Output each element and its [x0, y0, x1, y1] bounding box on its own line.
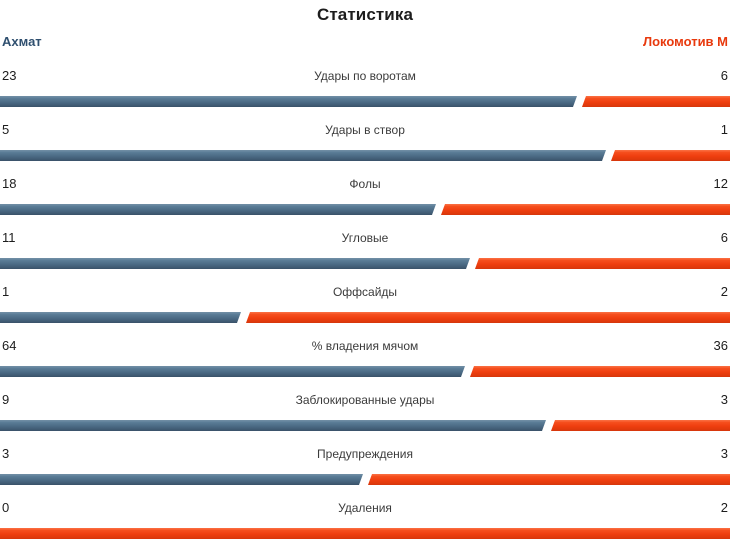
stat-label: Удаления	[36, 501, 694, 515]
stat-label: Угловые	[36, 231, 694, 245]
away-bar-segment	[243, 312, 730, 323]
away-bar-segment	[0, 528, 730, 539]
stat-label: Заблокированные удары	[36, 393, 694, 407]
stat-bar	[0, 528, 730, 539]
away-stat-value: 12	[694, 176, 728, 191]
stat-row-header: 1Оффсайды2	[0, 284, 730, 306]
away-bar-segment	[438, 204, 730, 215]
away-team-name: Локомотив М	[643, 34, 728, 49]
stat-row-header: 9Заблокированные удары3	[0, 392, 730, 414]
stat-bar	[0, 150, 730, 161]
home-stat-value: 11	[2, 230, 36, 245]
stat-row: 9Заблокированные удары3	[0, 392, 730, 446]
home-bar-segment	[0, 96, 579, 107]
stat-label: Оффсайды	[36, 285, 694, 299]
stat-row: 1Оффсайды2	[0, 284, 730, 338]
stat-row-header: 0Удаления2	[0, 500, 730, 522]
away-stat-value: 3	[694, 392, 728, 407]
home-bar-segment	[0, 420, 548, 431]
stat-row-header: 18Фолы12	[0, 176, 730, 198]
away-stat-value: 36	[694, 338, 728, 353]
away-bar-segment	[548, 420, 730, 431]
stat-bar	[0, 420, 730, 431]
stat-row: 11Угловые6	[0, 230, 730, 284]
away-stat-value: 6	[694, 68, 728, 83]
away-bar-segment	[472, 258, 730, 269]
away-stat-value: 1	[694, 122, 728, 137]
away-stat-value: 2	[694, 500, 728, 515]
away-bar-segment	[579, 96, 730, 107]
home-bar-segment	[0, 366, 467, 377]
home-stat-value: 23	[2, 68, 36, 83]
stat-row-header: 3Предупреждения3	[0, 446, 730, 468]
page-title: Статистика	[0, 0, 730, 28]
home-bar-segment	[0, 474, 365, 485]
home-bar-segment	[0, 258, 472, 269]
home-stat-value: 9	[2, 392, 36, 407]
stat-row: 23Удары по воротам6	[0, 68, 730, 122]
home-bar-segment	[0, 150, 608, 161]
home-bar-segment	[0, 312, 243, 323]
stat-bar	[0, 258, 730, 269]
stat-row: 3Предупреждения3	[0, 446, 730, 500]
home-stat-value: 5	[2, 122, 36, 137]
away-stat-value: 6	[694, 230, 728, 245]
away-stat-value: 3	[694, 446, 728, 461]
home-stat-value: 1	[2, 284, 36, 299]
stat-row-header: 11Угловые6	[0, 230, 730, 252]
stat-bar	[0, 204, 730, 215]
home-stat-value: 64	[2, 338, 36, 353]
home-team-name: Ахмат	[2, 34, 42, 49]
home-bar-segment	[0, 204, 438, 215]
home-stat-value: 0	[2, 500, 36, 515]
stat-label: Удары по воротам	[36, 69, 694, 83]
home-stat-value: 18	[2, 176, 36, 191]
home-stat-value: 3	[2, 446, 36, 461]
stat-row-header: 23Удары по воротам6	[0, 68, 730, 90]
stat-row-header: 64% владения мячом36	[0, 338, 730, 360]
stat-row: 5Удары в створ1	[0, 122, 730, 176]
stat-row: 18Фолы12	[0, 176, 730, 230]
stat-bar	[0, 312, 730, 323]
stat-bar	[0, 366, 730, 377]
away-bar-segment	[608, 150, 730, 161]
team-header: Ахмат Локомотив М	[0, 34, 730, 60]
stat-row: 64% владения мячом36	[0, 338, 730, 392]
stat-bar	[0, 474, 730, 485]
stat-rows: 23Удары по воротам65Удары в створ118Фолы…	[0, 68, 730, 554]
stat-row-header: 5Удары в створ1	[0, 122, 730, 144]
stat-label: Предупреждения	[36, 447, 694, 461]
stat-bar	[0, 96, 730, 107]
statistics-panel: Статистика Ахмат Локомотив М 23Удары по …	[0, 0, 730, 546]
away-bar-segment	[365, 474, 730, 485]
away-bar-segment	[467, 366, 730, 377]
stat-label: % владения мячом	[36, 339, 694, 353]
stat-label: Удары в створ	[36, 123, 694, 137]
stat-label: Фолы	[36, 177, 694, 191]
away-stat-value: 2	[694, 284, 728, 299]
